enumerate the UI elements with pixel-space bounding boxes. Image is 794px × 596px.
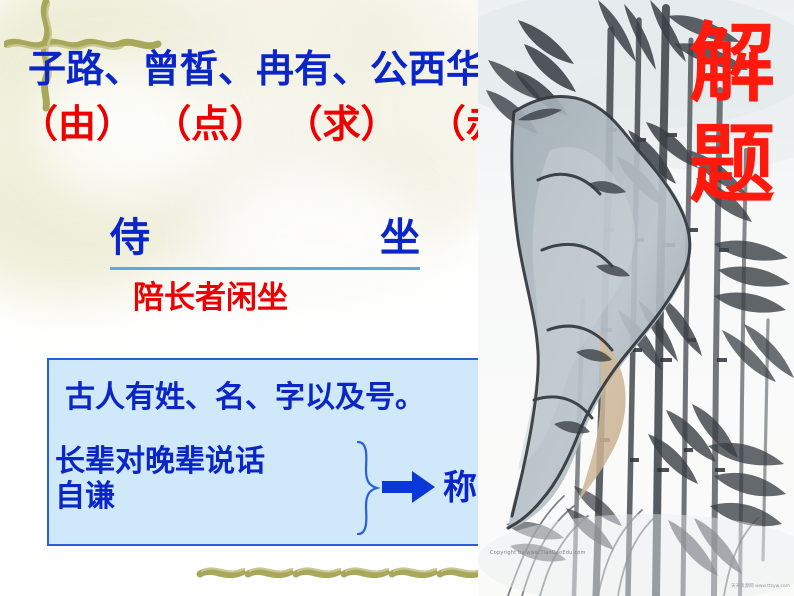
condition-item-2: 自谦: [55, 479, 265, 514]
keyword-zuo: 坐: [380, 205, 420, 263]
bamboo-ink-painting: 解 题 Copyright by www.TianDaoEdu.com 天天资源…: [478, 0, 794, 596]
right-curly-brace-icon: [354, 440, 380, 536]
courtesy-names-line: （由） （点） （求） （赤）: [20, 105, 530, 143]
title-char-jie: 解: [686, 14, 778, 115]
right-arrow-icon: [382, 470, 436, 504]
page-title: 解 题: [686, 14, 778, 217]
slide-canvas: 子路、曾皙、冉有、公西华 （由） （点） （求） （赤） 侍 坐 陪长者闲坐 古…: [0, 0, 794, 596]
keyword-shi: 侍: [110, 205, 150, 263]
copyright-watermark: Copyright by www.TianDaoEdu.com: [490, 550, 586, 556]
courtesy-name-you: （由）: [20, 105, 140, 143]
keyword-gloss: 陪长者闲坐: [133, 272, 288, 317]
condition-item-1: 长辈对晚辈说话: [55, 444, 265, 479]
keyword-row: 侍 坐: [110, 205, 420, 270]
title-char-ti: 题: [686, 115, 778, 216]
explanation-statement: 古人有姓、名、字以及号。: [65, 372, 425, 416]
courtesy-name-dian: （点）: [153, 105, 271, 143]
site-watermark: 天天资源网 www.ttzyw.com: [731, 583, 790, 589]
disciple-names-line: 子路、曾皙、冉有、公西华: [28, 50, 528, 88]
explanation-box: 古人有姓、名、字以及号。 长辈对晚辈说话 自谦 称名: [47, 358, 483, 546]
courtesy-name-qiu: （求）: [284, 105, 414, 143]
olive-wave-border-decoration: [196, 560, 486, 586]
condition-list: 长辈对晚辈说话 自谦: [55, 444, 265, 515]
